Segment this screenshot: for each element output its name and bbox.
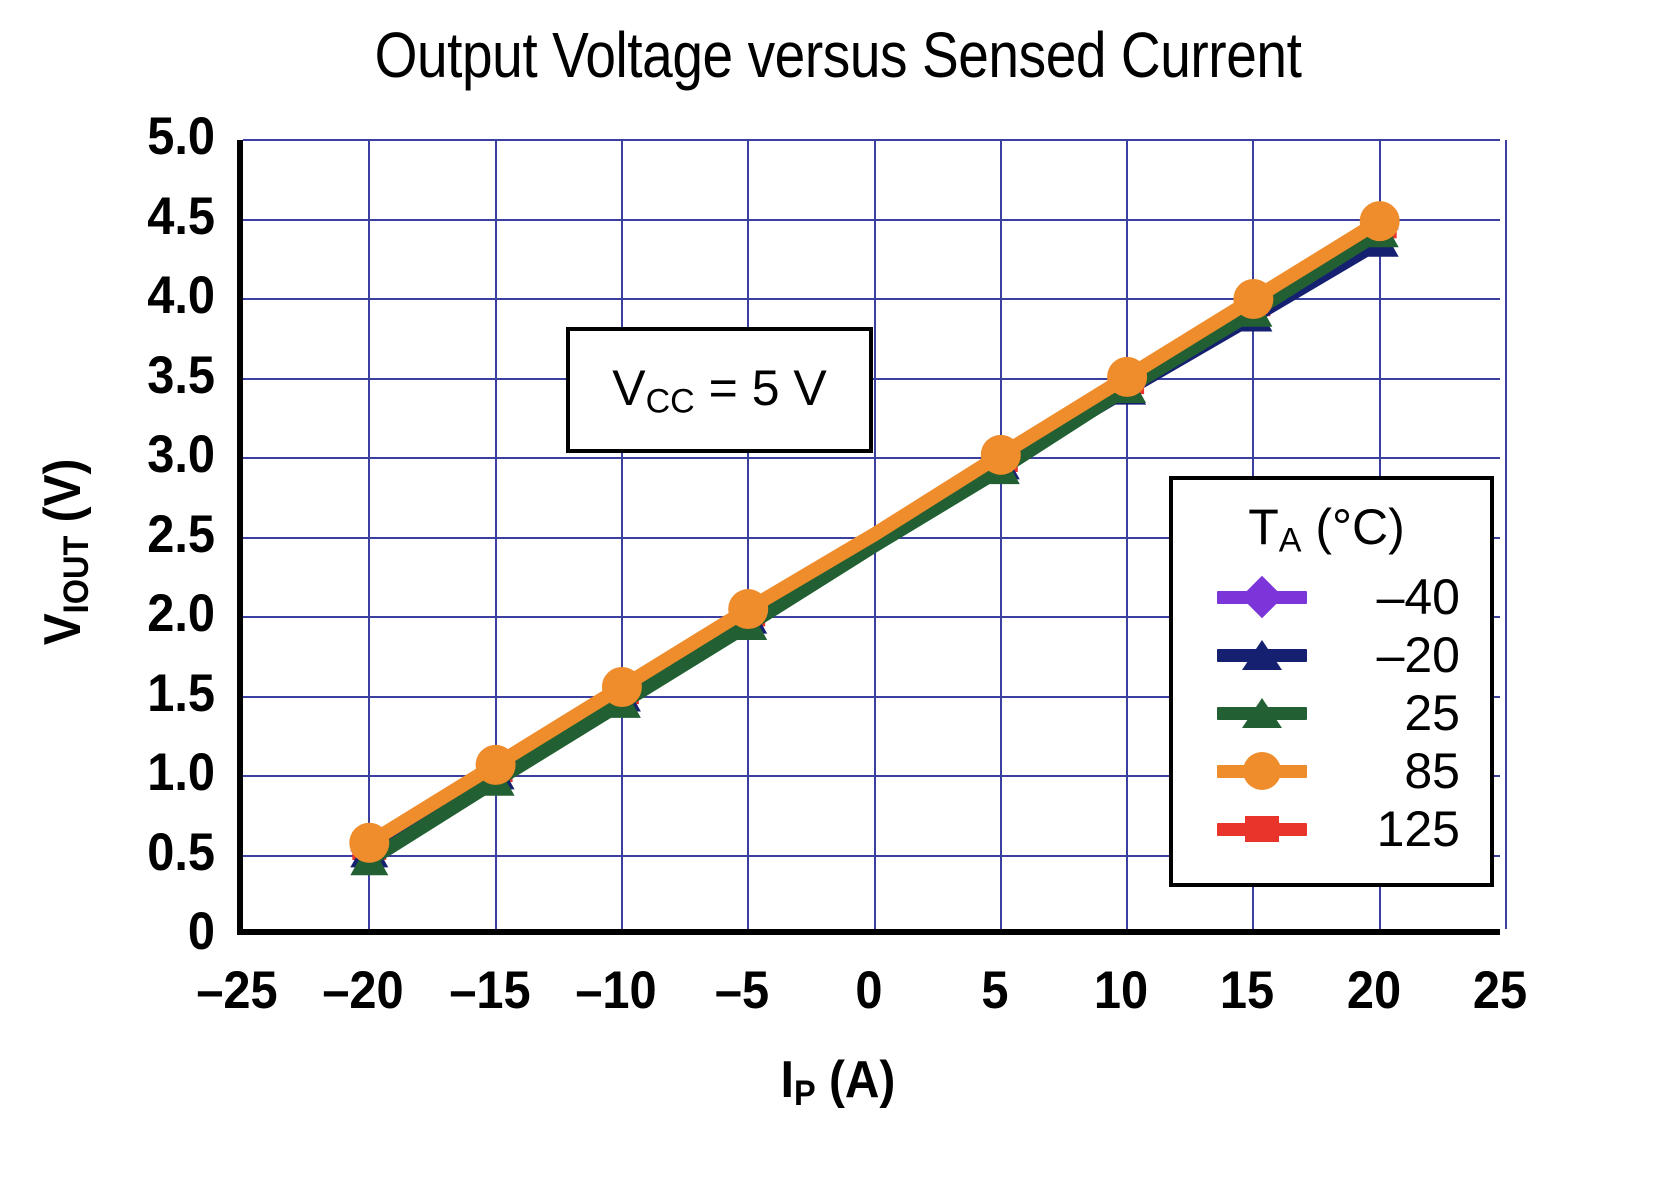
legend-entries: –40–202585125: [1173, 568, 1490, 858]
legend-title-subscript: A: [1279, 521, 1302, 559]
legend-entry-label: 125: [1321, 800, 1490, 858]
data-point-circle: [602, 667, 642, 707]
annotation-rest: = 5 V: [695, 360, 827, 416]
data-point-circle: [1360, 201, 1400, 241]
x-axis-title-rest: (A): [816, 1051, 896, 1109]
x-axis-title-subscript: P: [794, 1074, 816, 1113]
legend-entry-label: –40: [1321, 568, 1490, 626]
legend-swatch: [1203, 626, 1321, 684]
legend-swatch: [1203, 684, 1321, 742]
y-axis-title-rest: (V): [34, 459, 92, 536]
data-point-circle: [1233, 279, 1273, 319]
x-axis-title-main: I: [781, 1051, 794, 1109]
y-axis-tick-label: 5.0: [54, 106, 215, 167]
square-marker-icon: [1245, 816, 1279, 842]
annotation-v: V: [612, 360, 645, 416]
legend-title-main: T: [1248, 499, 1279, 555]
circle-marker-icon: [1243, 752, 1281, 790]
legend-swatch: [1203, 742, 1321, 800]
legend-entry[interactable]: 25: [1173, 684, 1490, 742]
y-axis-title: VIOUT (V): [33, 184, 97, 920]
data-point-circle: [349, 823, 389, 863]
legend-title: TA (°C): [1173, 498, 1490, 560]
data-point-circle: [981, 435, 1021, 475]
x-axis-tick-label: 25: [1417, 960, 1583, 1021]
legend-entry-label: –20: [1321, 626, 1490, 684]
triangle-marker-icon: [1242, 698, 1282, 728]
data-point-circle: [728, 589, 768, 629]
triangle-marker-icon: [1242, 640, 1282, 670]
diamond-marker-icon: [1241, 576, 1283, 618]
legend-entry[interactable]: 125: [1173, 800, 1490, 858]
legend: TA (°C) –40–202585125: [1169, 476, 1494, 887]
data-point-circle: [1107, 357, 1147, 397]
y-axis-title-subscript: IOUT: [57, 536, 96, 614]
page-title: Output Voltage versus Sensed Current: [117, 18, 1558, 92]
annotation-box: VCC = 5 V: [566, 327, 873, 453]
annotation-subscript: CC: [646, 382, 695, 420]
legend-entry[interactable]: 85: [1173, 742, 1490, 800]
legend-entry-label: 25: [1321, 684, 1490, 742]
y-axis-title-main: V: [34, 613, 92, 645]
legend-swatch: [1203, 800, 1321, 858]
legend-entry[interactable]: –20: [1173, 626, 1490, 684]
chart-figure: Output Voltage versus Sensed Current 5.0…: [0, 0, 1676, 1200]
x-axis-title: IP (A): [67, 1050, 1609, 1114]
data-point-circle: [476, 745, 516, 785]
legend-entry-label: 85: [1321, 742, 1490, 800]
annotation-text: VCC = 5 V: [612, 359, 827, 421]
legend-swatch: [1203, 568, 1321, 626]
legend-entry[interactable]: –40: [1173, 568, 1490, 626]
legend-title-rest: (°C): [1301, 499, 1404, 555]
